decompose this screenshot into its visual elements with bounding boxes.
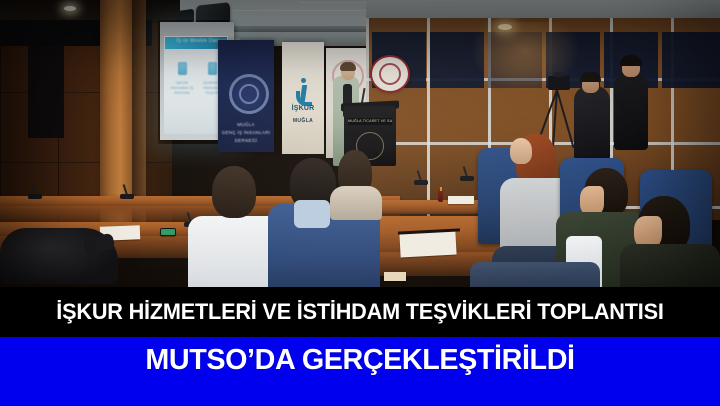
standing-man-hair: [620, 55, 642, 66]
iskur-logo-icon: [296, 78, 311, 102]
audience-collar: [294, 200, 330, 228]
standing-man-body: [614, 72, 648, 150]
speaker-hair: [340, 62, 356, 71]
slide-icon-right: [208, 62, 217, 75]
open-notebook: [399, 231, 456, 258]
dernek-line2: GENÇ İŞ İNSANLARI: [218, 130, 274, 135]
dark-glass-panel: [662, 32, 720, 88]
audience-body-3: [330, 186, 382, 220]
dernek-line3: DERNEĞİ: [218, 138, 274, 143]
wall-spotlight: [498, 24, 512, 30]
standing-man-2-hair: [580, 72, 601, 82]
standing-man-2-body: [574, 86, 610, 160]
audience-face-4: [510, 138, 532, 164]
dernek-line1: MUĞLA: [218, 122, 274, 127]
video-camera: [548, 76, 570, 90]
water-bottle: [438, 190, 443, 202]
caption-headline-line1: İŞKUR HİZMETLERİ VE İSTİHDAM TEŞVİKLERİ …: [5, 293, 714, 331]
chamber-emblem: [370, 55, 410, 93]
upper-wall-band: [366, 0, 720, 18]
wall-dark-panel: [28, 46, 64, 138]
slide-caption-left: İŞKUR Hizmetleri İŞ ARAYAN: [169, 80, 195, 95]
slide-icon-left: [178, 62, 187, 75]
dernek-emblem: [229, 74, 269, 114]
paper-scrap: [384, 272, 406, 281]
mobile-phone: [160, 228, 176, 236]
news-photo-card: İŞ ve Meslek Danışmanlığı İŞKUR Hizmetle…: [0, 0, 720, 406]
ceiling-light: [64, 6, 76, 11]
notebook-small: [448, 196, 474, 204]
caption-headline-line2: MUTSO’DA GERÇEKLEŞTİRİLDİ: [4, 338, 717, 382]
iskur-wordmark: İŞKUR: [282, 105, 324, 112]
iskur-city-label: MUĞLA: [282, 118, 324, 124]
lectern-nameplate: MUĞLA TİCARET VE SANAYİ ODASI: [348, 118, 392, 125]
audience-head-1: [212, 166, 256, 218]
